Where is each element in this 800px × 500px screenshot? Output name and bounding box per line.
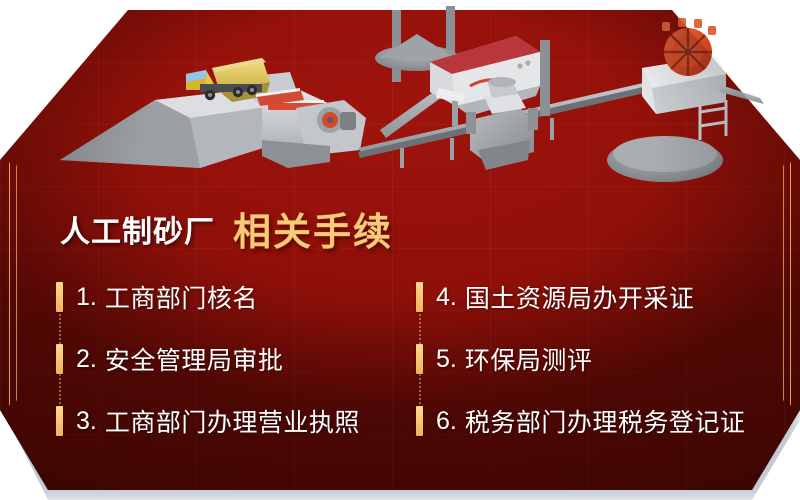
marker-bar-icon xyxy=(56,282,63,312)
production-line-illustration xyxy=(0,0,800,185)
product-pile-icon xyxy=(607,136,723,182)
banner-title: 人工制砂厂 相关手续 xyxy=(60,198,393,253)
list-item-number: 6. xyxy=(436,407,457,436)
list-item[interactable]: 4. 国土资源局办开采证 xyxy=(414,266,754,328)
list-item-number: 3. xyxy=(76,407,97,436)
list-item-label: 税务部门办理税务登记证 xyxy=(465,403,746,439)
procedure-list: 1. 工商部门核名 2. 安全管理局审批 3. 工商部门办理营业执照 4. 国土… xyxy=(54,266,754,452)
list-item-label: 工商部门核名 xyxy=(105,279,258,315)
marker-bar-icon xyxy=(56,344,63,374)
list-item-label: 安全管理局审批 xyxy=(105,341,284,377)
banner-root: 人工制砂厂 相关手续 1. 工商部门核名 2. 安全管理局审批 3. 工商部门办… xyxy=(0,0,800,500)
marker-bar-icon xyxy=(416,406,423,436)
title-accent: 相关手续 xyxy=(233,201,393,256)
list-item[interactable]: 5. 环保局测评 xyxy=(414,328,754,390)
sand-washer-wheel-icon xyxy=(642,18,764,140)
list-item-label: 工商部门办理营业执照 xyxy=(105,403,360,439)
list-item-label: 环保局测评 xyxy=(465,341,593,377)
list-item-number: 5. xyxy=(436,345,457,374)
marker-bar-icon xyxy=(416,282,423,312)
list-item[interactable]: 2. 安全管理局审批 xyxy=(54,328,414,390)
list-item[interactable]: 6. 税务部门办理税务登记证 xyxy=(414,390,754,452)
marker-bar-icon xyxy=(416,344,423,374)
procedure-column-left: 1. 工商部门核名 2. 安全管理局审批 3. 工商部门办理营业执照 xyxy=(54,266,414,452)
list-item-number: 1. xyxy=(76,283,97,312)
list-item-number: 2. xyxy=(76,345,97,374)
list-item[interactable]: 1. 工商部门核名 xyxy=(54,266,414,328)
list-item[interactable]: 3. 工商部门办理营业执照 xyxy=(54,390,414,452)
marker-bar-icon xyxy=(56,406,63,436)
procedure-column-right: 4. 国土资源局办开采证 5. 环保局测评 6. 税务部门办理税务登记证 xyxy=(414,266,754,452)
list-item-number: 4. xyxy=(436,283,457,312)
list-item-label: 国土资源局办开采证 xyxy=(465,279,695,315)
title-primary: 人工制砂厂 xyxy=(60,207,215,251)
